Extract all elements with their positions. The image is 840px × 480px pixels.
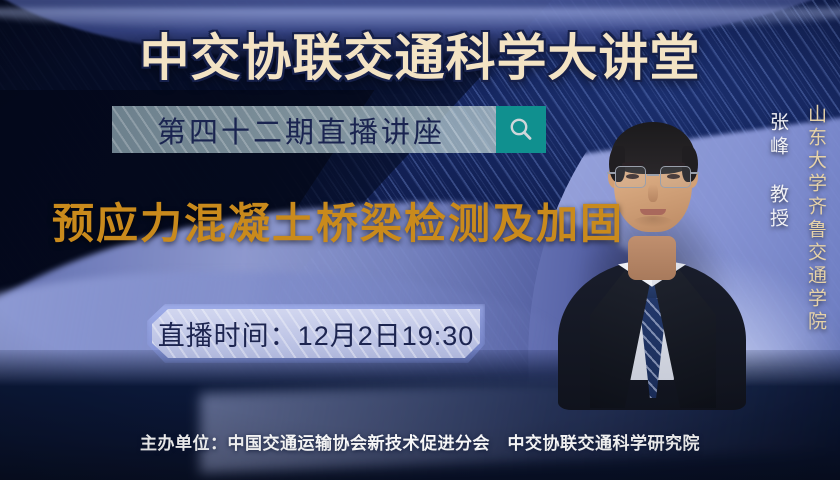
portrait-chin [632, 216, 674, 230]
broadcast-time-label: 直播时间：12月2日19:30 [158, 314, 475, 353]
portrait-nose [648, 184, 658, 202]
subtitle-banner-label: 第四十二期直播讲座 [112, 106, 496, 153]
live-lecture-poster: 中交协联交通科学大讲堂 第四十二期直播讲座 预应力混凝土桥梁检测及加固 直播时间… [0, 0, 840, 480]
organizer-footer: 主办单位：中国交通运输协会新技术促进分会 中交协联交通科学研究院 [0, 429, 840, 454]
portrait-lens-right [660, 166, 691, 188]
speaker-name-title: 张峰 教授 [767, 112, 788, 232]
subtitle-banner: 第四十二期直播讲座 [112, 106, 546, 153]
portrait-lens-left [615, 166, 646, 188]
portrait-neck [628, 236, 676, 280]
speaker-portrait [556, 108, 748, 408]
broadcast-time-banner: 直播时间：12月2日19:30 [152, 309, 480, 358]
portrait-glasses-temple-left [607, 172, 616, 174]
portrait-mouth [640, 209, 666, 215]
portrait-glasses-temple-right [690, 172, 699, 174]
speaker-affiliation: 山东大学齐鲁交通学院 [805, 104, 826, 334]
lecture-title: 预应力混凝土桥梁检测及加固 [52, 190, 624, 251]
page-title: 中交协联交通科学大讲堂 [0, 18, 840, 90]
search-icon [496, 106, 546, 153]
portrait-glasses-bridge [647, 174, 659, 176]
portrait-fade [546, 352, 760, 412]
